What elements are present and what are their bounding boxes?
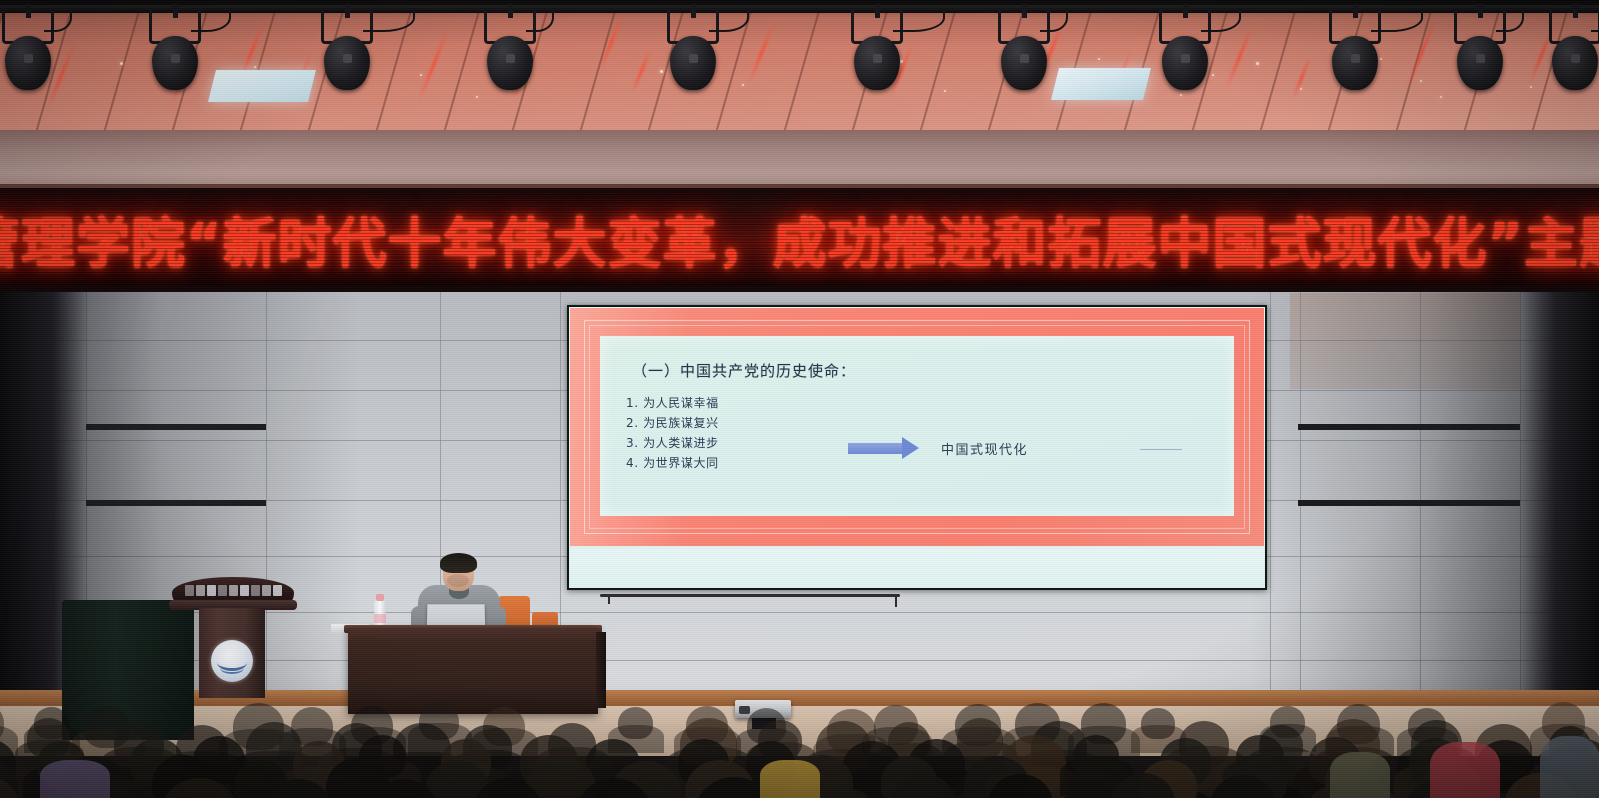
lectern-plate-character [218, 585, 227, 596]
ceiling-seam [92, 0, 146, 134]
ceiling-speck [742, 84, 744, 86]
audience-head [618, 707, 653, 739]
lectern-plate-character [207, 585, 216, 596]
ceiling-speck [944, 90, 946, 92]
lamp-lens-icon [24, 54, 33, 63]
lamp-lens-icon [506, 54, 515, 63]
lamp-housing [152, 36, 198, 90]
ceiling-speck [1300, 88, 1302, 90]
audience-head [1141, 708, 1175, 739]
ceiling-speck [1098, 58, 1100, 60]
lamp-housing [854, 36, 900, 90]
ceiling-speck [254, 66, 256, 68]
audience-member-coat [760, 760, 820, 798]
right-arrow-icon [848, 443, 902, 454]
lectern-plate-character [251, 585, 260, 596]
presenter-face-shadow [447, 574, 469, 587]
ceiling-seam [1112, 0, 1166, 134]
lamp-lens-icon [1476, 54, 1485, 63]
lectern-plate-character [196, 585, 205, 596]
ceiling-seam [1248, 0, 1302, 134]
lectern-plate-character [262, 585, 271, 596]
slide-mission-list: 1. 为人民谋幸福 2. 为民族谋复兴 3. 为人类谋进步 4. 为世界谋大同 [626, 393, 826, 473]
lamp-housing [1552, 36, 1598, 90]
lectern-plate-character [229, 585, 238, 596]
screen-blank-band [570, 549, 1264, 587]
ceiling-speck [1212, 74, 1214, 76]
ceiling-speck [476, 96, 478, 98]
ceiling-speck [1530, 86, 1532, 88]
slide-body: 1. 为人民谋幸福 2. 为民族谋复兴 3. 为人类谋进步 4. 为世界谋大同 … [626, 393, 1208, 473]
ceiling-seam [772, 0, 826, 134]
hall-right-dark-edge [1520, 292, 1599, 722]
audience-area [0, 676, 1599, 798]
slide-arrow-group: 中国式现代化 [848, 437, 1028, 459]
list-item: 2. 为民族谋复兴 [626, 413, 826, 433]
ceiling-seam [432, 0, 486, 134]
screen-rod-hook [608, 594, 610, 604]
lamp-housing [1001, 36, 1047, 90]
lamp-housing [1162, 36, 1208, 90]
ceiling-speck [1420, 80, 1422, 82]
lamp-lens-icon [689, 54, 698, 63]
ceiling-speck [1256, 62, 1259, 65]
lectern-plate-character [185, 585, 194, 596]
list-item: 4. 为世界谋大同 [626, 453, 826, 473]
audience-member-coat [1330, 752, 1390, 798]
lectern-name-plate [180, 583, 286, 598]
upper-wall [0, 130, 1599, 192]
audience-head [957, 718, 1003, 760]
lamp-cable [1591, 8, 1599, 32]
ceiling-speck [660, 70, 663, 73]
audience-member-coat [1540, 736, 1599, 798]
list-item: 1. 为人民谋幸福 [626, 393, 826, 413]
lamp-housing [670, 36, 716, 90]
ceiling-speck [1180, 94, 1182, 96]
lamp-housing [1457, 36, 1503, 90]
lecture-hall-photo: 工商管理学院“新时代十年伟大变革，成功推进和拓展中国式现代化”主题讲座 （一）中… [0, 0, 1599, 798]
bottle-cap [376, 594, 384, 601]
audience-member-coat [1430, 742, 1500, 798]
banner-text: 工商管理学院“新时代十年伟大变革，成功推进和拓展中国式现代化”主题讲座 [0, 188, 1599, 288]
lamp-lens-icon [1181, 54, 1190, 63]
lamp-housing [324, 36, 370, 90]
screen-rod-hook [895, 594, 897, 607]
lamp-housing [1332, 36, 1378, 90]
lamp-housing [5, 36, 51, 90]
screen-bottom-rod [600, 594, 900, 597]
presentation-slide: （一）中国共产党的历史使命： 1. 为人民谋幸福 2. 为民族谋复兴 3. 为人… [570, 308, 1264, 546]
lamp-lens-icon [1351, 54, 1360, 63]
truss-top-rail [0, 0, 1599, 5]
bottle-label [374, 614, 386, 623]
lamp-housing [487, 36, 533, 90]
ceiling-speck [120, 62, 123, 65]
ceiling-speck [1440, 96, 1442, 98]
seal-arc-inner [220, 662, 244, 674]
list-item: 3. 为人类谋进步 [626, 433, 826, 453]
ceiling-speck [420, 74, 422, 76]
slide-content-area: （一）中国共产党的历史使命： 1. 为人民谋幸福 2. 为民族谋复兴 3. 为人… [600, 336, 1234, 516]
slide-arrow-label: 中国式现代化 [941, 439, 1028, 458]
skylight-panel-1 [208, 70, 316, 102]
lamp-lens-icon [343, 54, 352, 63]
lamp-lens-icon [873, 54, 882, 63]
lamp-lens-icon [1571, 54, 1580, 63]
projection-screen: （一）中国共产党的历史使命： 1. 为人民谋幸福 2. 为民族谋复兴 3. 为人… [567, 305, 1267, 590]
slide-underline-mark [1140, 449, 1182, 450]
led-banner: 工商管理学院“新时代十年伟大变革，成功推进和拓展中国式现代化”主题讲座 [0, 188, 1599, 288]
skylight-panel-2 [1051, 68, 1151, 100]
slide-title: （一）中国共产党的历史使命： [632, 360, 1208, 381]
lamp-lens-icon [1020, 54, 1029, 63]
ceiling-seam [568, 0, 622, 134]
lectern-plate-character [240, 585, 249, 596]
lectern-plate-character [273, 585, 282, 596]
audience-member-coat [40, 760, 110, 798]
presenter-hair [440, 553, 477, 573]
lamp-lens-icon [171, 54, 180, 63]
right-arrow-head-icon [902, 437, 919, 459]
